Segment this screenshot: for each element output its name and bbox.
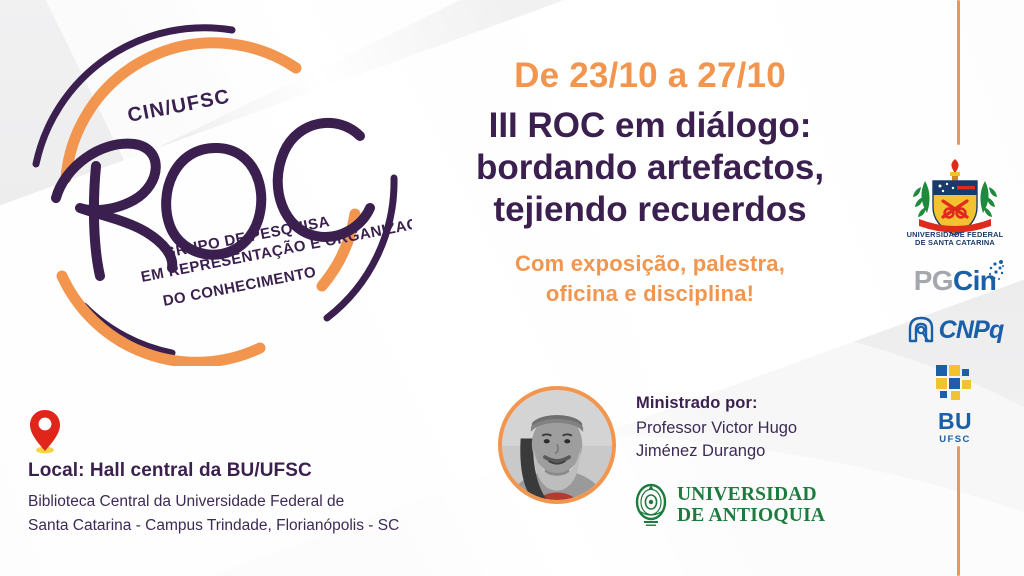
sponsor-logo-column: UNIVERSIDADE FEDERAL DE SANTA CATARINA P…: [895, 155, 1015, 445]
location-block: Local: Hall central da BU/UFSC Bibliotec…: [28, 408, 448, 539]
cnpq-logo-slot: CNPq: [895, 301, 1015, 347]
bu-ufsc-logo: BU UFSC: [925, 363, 985, 445]
antioquia-seal-icon: [632, 482, 670, 528]
cnpq-logo: CNPq: [899, 313, 1011, 347]
presenter-label: Ministrado por:: [636, 394, 876, 413]
event-poster: CIN/UFSC GRUPO DE PESQUISA EM REPRESENTA…: [0, 0, 1024, 576]
location-address-line-2: Santa Catarina - Campus Trindade, Floria…: [28, 514, 448, 538]
ufsc-logo: UNIVERSIDADE FEDERAL DE SANTA CATARINA: [903, 155, 1007, 247]
accent-rule-top: [957, 0, 960, 145]
presenter-name-line-2: Jiménez Durango: [636, 440, 876, 463]
antioquia-line-1: UNIVERSIDAD: [677, 484, 825, 505]
event-title-line-1: III ROC em diálogo:: [420, 105, 880, 147]
accent-rule-bottom: [957, 446, 960, 576]
pgcin-logo-slot: PGCin: [895, 247, 1015, 301]
antioquia-wordmark: UNIVERSIDAD DE ANTIOQUIA: [677, 484, 825, 526]
roc-logo-cin-ufsc-label: CIN/UFSC: [126, 85, 232, 126]
event-title: III ROC em diálogo: bordando artefactos,…: [420, 105, 880, 231]
headline-block: De 23/10 a 27/10 III ROC em diálogo: bor…: [420, 56, 880, 308]
cnpq-wordmark: CNPq: [939, 318, 1004, 343]
cnpq-head-icon: [907, 315, 937, 345]
event-subtitle: Com exposição, palestra, oficina e disci…: [420, 249, 880, 308]
presenter-name-line-1: Professor Victor Hugo: [636, 417, 876, 440]
location-title: Local: Hall central da BU/UFSC: [28, 460, 448, 482]
event-date: De 23/10 a 27/10: [420, 56, 880, 95]
bu-grid-icon: [934, 363, 976, 405]
location-address-line-1: Biblioteca Central da Universidade Feder…: [28, 490, 448, 514]
event-subtitle-line-2: oficina e disciplina!: [420, 279, 880, 308]
presenter-avatar: [498, 386, 616, 504]
ufsc-crest-icon: UNIVERSIDADE FEDERAL DE SANTA CATARINA: [903, 155, 1007, 247]
ufsc-logo-slot: UNIVERSIDADE FEDERAL DE SANTA CATARINA: [895, 155, 1015, 247]
event-subtitle-line-1: Com exposição, palestra,: [420, 249, 880, 278]
roc-monogram: [56, 123, 370, 276]
pgcin-logo: PGCin: [903, 261, 1007, 301]
presenter-portrait-illustration: [502, 390, 612, 500]
pgcin-prefix: PG: [914, 265, 953, 296]
event-title-line-2: bordando artefactos,: [420, 147, 880, 189]
roc-group-logo: CIN/UFSC GRUPO DE PESQUISA EM REPRESENTA…: [22, 18, 412, 366]
universidad-de-antioquia-logo: UNIVERSIDAD DE ANTIOQUIA: [632, 480, 812, 530]
bu-sub-wordmark: UFSC: [925, 434, 985, 445]
map-pin-icon: [28, 408, 62, 454]
antioquia-line-2: DE ANTIOQUIA: [677, 505, 825, 526]
event-title-line-3: tejiendo recuerdos: [420, 189, 880, 231]
presenter-details: Ministrado por: Professor Victor Hugo Ji…: [636, 394, 876, 464]
bu-wordmark: BU: [925, 410, 985, 433]
ufsc-wordmark-line-2: DE SANTA CATARINA: [915, 238, 995, 247]
bu-logo-slot: BU UFSC: [895, 347, 1015, 445]
roc-logo-tagline: GRUPO DE PESQUISA EM REPRESENTAÇÃO E ORG…: [139, 210, 412, 310]
pgcin-dot-cluster-icon: [979, 259, 1005, 285]
